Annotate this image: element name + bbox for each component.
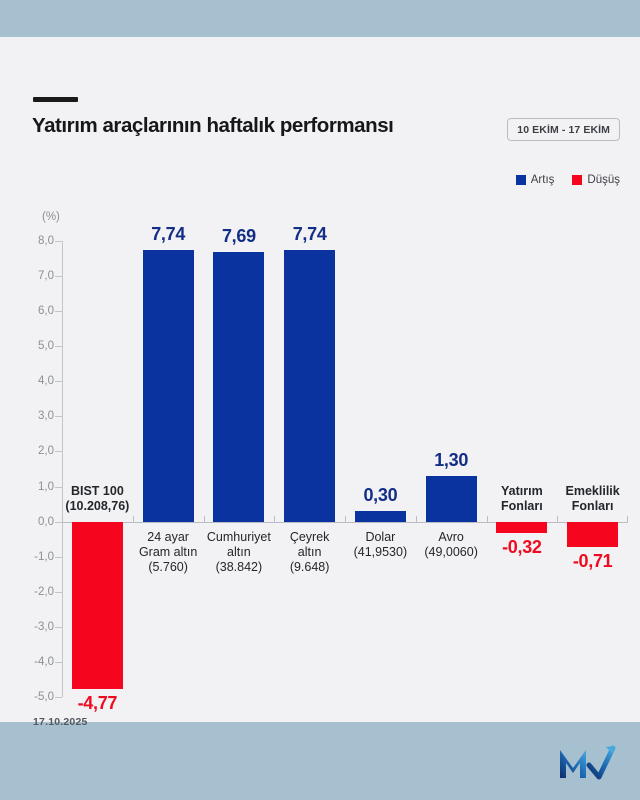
bar-value-label: 7,74 (293, 224, 327, 245)
bar-dolar[interactable] (355, 511, 406, 522)
bar-category-label: YatırımFonları (484, 484, 561, 514)
title-accent-rule (33, 97, 78, 102)
bar-category-label: BIST 100(10.208,76) (59, 484, 136, 514)
legend-swatch-down-icon (572, 175, 582, 185)
y-axis-tick-label: 4,0 (6, 375, 54, 387)
x-axis-tick (627, 516, 628, 523)
bar-value-label: 7,69 (222, 226, 256, 247)
bar-value-label: 7,74 (151, 224, 185, 245)
publish-date: 17.10.2025 (33, 716, 88, 728)
category-line: Yatırım (484, 484, 561, 499)
y-axis-tick-label: 7,0 (6, 270, 54, 282)
y-axis-tick (55, 416, 62, 417)
y-axis-tick (55, 662, 62, 663)
category-line: Gram altın (130, 545, 207, 560)
bar-value-label: -4,77 (78, 693, 118, 714)
y-axis-tick (55, 311, 62, 312)
y-axis-tick (55, 557, 62, 558)
y-axis-tick-label: -5,0 (6, 691, 54, 703)
bar-category-label: 24 ayarGram altın(5.760) (130, 530, 207, 575)
y-axis-tick (55, 276, 62, 277)
x-axis-tick (345, 516, 346, 523)
y-axis-tick-label: -2,0 (6, 586, 54, 598)
bar-value-label: 0,30 (363, 485, 397, 506)
category-line: BIST 100 (59, 484, 136, 499)
bar-category-label: EmeklilikFonları (554, 484, 631, 514)
chart-card: Yatırım araçlarının haftalık performansı… (0, 37, 640, 722)
bar-category-label: Çeyrekaltın(9.648) (271, 530, 348, 575)
x-axis-tick (487, 516, 488, 523)
y-axis-tick (55, 346, 62, 347)
x-axis-tick (416, 516, 417, 523)
category-line: Emeklilik (554, 484, 631, 499)
bar-yat-r-m-fonlar-[interactable] (496, 522, 547, 533)
category-line: altın (271, 545, 348, 560)
legend-item-up: Artış (516, 174, 555, 186)
category-sublabel: (41,9530) (342, 545, 419, 560)
y-axis-tick-label: -3,0 (6, 621, 54, 633)
y-axis-tick (55, 522, 62, 523)
category-line: Fonları (484, 499, 561, 514)
category-sublabel: (38.842) (201, 560, 278, 575)
y-axis-tick (55, 627, 62, 628)
bar-emeklilik-fonlar-[interactable] (567, 522, 618, 547)
y-axis-tick-label: 6,0 (6, 305, 54, 317)
x-axis-tick (133, 516, 134, 523)
bar-cumhuriyet-alt-n[interactable] (213, 252, 264, 522)
y-axis-tick (55, 451, 62, 452)
bar-value-label: 1,30 (434, 450, 468, 471)
bar-gram-alt-n[interactable] (143, 250, 194, 521)
y-axis-tick (55, 381, 62, 382)
infographic-root: Yatırım araçlarının haftalık performansı… (0, 0, 640, 800)
legend: Artış Düşüş (516, 174, 620, 186)
y-axis-tick-label: 1,0 (6, 481, 54, 493)
legend-item-down: Düşüş (572, 174, 620, 186)
bar-category-label: Avro(49,0060) (413, 530, 490, 560)
x-axis-tick (204, 516, 205, 523)
y-axis-tick (55, 241, 62, 242)
category-line: Dolar (342, 530, 419, 545)
category-sublabel: (49,0060) (413, 545, 490, 560)
x-axis-tick (62, 516, 63, 523)
category-sublabel: (10.208,76) (59, 499, 136, 514)
category-line: Fonları (554, 499, 631, 514)
y-axis-tick-label: -1,0 (6, 551, 54, 563)
category-line: Çeyrek (271, 530, 348, 545)
y-axis-tick-label: 3,0 (6, 410, 54, 422)
y-axis-tick (55, 697, 62, 698)
y-axis-unit-label: (%) (42, 211, 60, 223)
y-axis-tick-label: 5,0 (6, 340, 54, 352)
y-axis-tick-label: -4,0 (6, 656, 54, 668)
category-sublabel: (9.648) (271, 560, 348, 575)
page-title: Yatırım araçlarının haftalık performansı (32, 113, 502, 139)
mynet-finans-logo-icon (556, 740, 618, 782)
category-line: Cumhuriyet (201, 530, 278, 545)
bar-avro[interactable] (426, 476, 477, 522)
plot-area: -4,77BIST 100(10.208,76)7,7424 ayarGram … (62, 241, 628, 697)
y-axis-tick-label: 8,0 (6, 235, 54, 247)
legend-label-down: Düşüş (587, 174, 620, 186)
y-axis-line (62, 241, 63, 697)
y-axis-tick (55, 592, 62, 593)
category-sublabel: (5.760) (130, 560, 207, 575)
y-axis-tick-label: 0,0 (6, 516, 54, 528)
y-axis-tick-labels: 8,07,06,05,04,03,02,01,00,0-1,0-2,0-3,0-… (0, 241, 54, 697)
category-line: Avro (413, 530, 490, 545)
x-axis-tick (274, 516, 275, 523)
category-line: altın (201, 545, 278, 560)
legend-swatch-up-icon (516, 175, 526, 185)
bar-category-label: Cumhuriyetaltın(38.842) (201, 530, 278, 575)
x-axis-tick (557, 516, 558, 523)
bar-bist-100[interactable] (72, 522, 123, 689)
bar-category-label: Dolar(41,9530) (342, 530, 419, 560)
category-line: 24 ayar (130, 530, 207, 545)
y-axis-tick-label: 2,0 (6, 445, 54, 457)
bar--eyrek-alt-n[interactable] (284, 250, 335, 521)
bar-value-label: -0,32 (502, 537, 542, 558)
bar-value-label: -0,71 (573, 551, 613, 572)
legend-label-up: Artış (531, 174, 555, 186)
date-range-badge: 10 EKİM - 17 EKİM (507, 118, 620, 141)
